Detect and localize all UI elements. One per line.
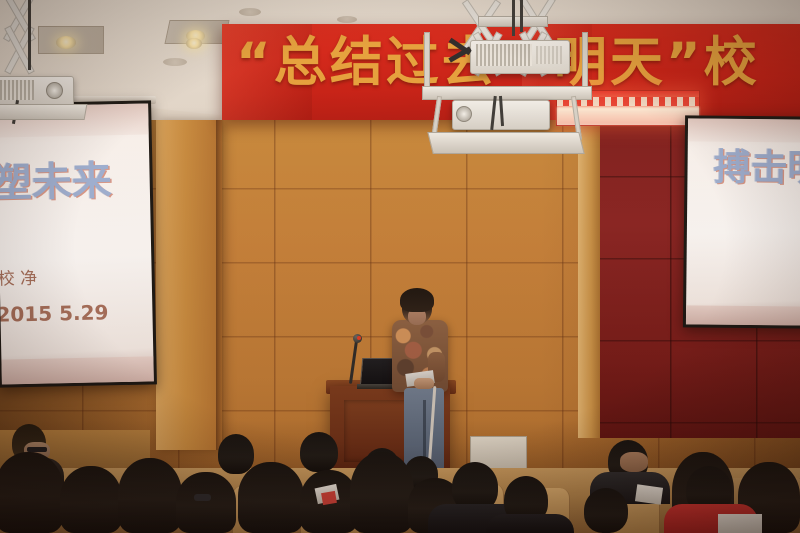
ceiling-fixture-icon xyxy=(163,58,187,66)
speaker-hand xyxy=(414,378,434,389)
screen-left-subtitle: 校 净 xyxy=(0,264,37,290)
screen-left-date: 2015 5.29 xyxy=(0,300,109,326)
speaker-hair xyxy=(400,288,434,312)
lift-frame-bar xyxy=(422,86,592,100)
handout-paper-red xyxy=(321,491,337,505)
projector-lens-icon xyxy=(46,82,63,99)
ceiling-fixture-icon xyxy=(337,16,357,23)
lift-base-panel xyxy=(0,104,87,120)
cable xyxy=(28,0,31,70)
screen-right-title: 搏击明 xyxy=(713,137,800,192)
audience-head xyxy=(300,432,338,472)
handout-paper xyxy=(635,484,663,504)
projection-screen-left: 塑未来 校 净 2015 5.29 xyxy=(0,100,157,387)
lift-rod xyxy=(582,32,588,90)
cable xyxy=(512,0,515,36)
audience-face xyxy=(620,452,648,472)
photo-scene: “总结过去 明天”校 塑未来 校 净 2015 5.29 搏击明 xyxy=(0,0,800,533)
downlight-icon xyxy=(186,38,202,49)
projection-screen-right: 搏击明 xyxy=(683,115,800,328)
screen-bottom-band xyxy=(1,356,153,384)
lift-rod xyxy=(424,32,430,90)
lift-base-panel xyxy=(427,132,584,154)
audience-head xyxy=(0,452,64,533)
screen-surface: 塑未来 校 净 2015 5.29 xyxy=(0,103,154,384)
wall-column-edge xyxy=(216,120,224,450)
audience-head xyxy=(60,466,122,533)
wall-column-right xyxy=(578,108,600,438)
handout-paper xyxy=(718,514,762,533)
wall-column-left xyxy=(156,120,222,450)
cable xyxy=(520,0,523,32)
projector-vent xyxy=(536,46,562,64)
audience-head xyxy=(118,458,182,533)
ceiling-fixture-icon xyxy=(239,8,261,16)
projector-vent xyxy=(476,44,532,66)
audience-head xyxy=(584,488,628,533)
audience-head xyxy=(218,434,254,474)
projector-lift-left xyxy=(0,0,114,130)
audience-head xyxy=(350,452,414,533)
projector-lift-center xyxy=(440,0,620,150)
audience-head xyxy=(176,472,236,533)
microphone-led-indicator xyxy=(357,336,361,340)
projector-vent xyxy=(0,80,34,100)
audience-head xyxy=(238,462,304,533)
screen-bottom-band xyxy=(686,306,800,326)
projector-lens-icon xyxy=(456,106,472,122)
screen-surface: 搏击明 xyxy=(686,118,800,325)
eyeglasses-icon xyxy=(194,494,211,501)
screen-left-title: 塑未来 xyxy=(0,148,112,209)
audience-shoulders xyxy=(486,514,574,533)
